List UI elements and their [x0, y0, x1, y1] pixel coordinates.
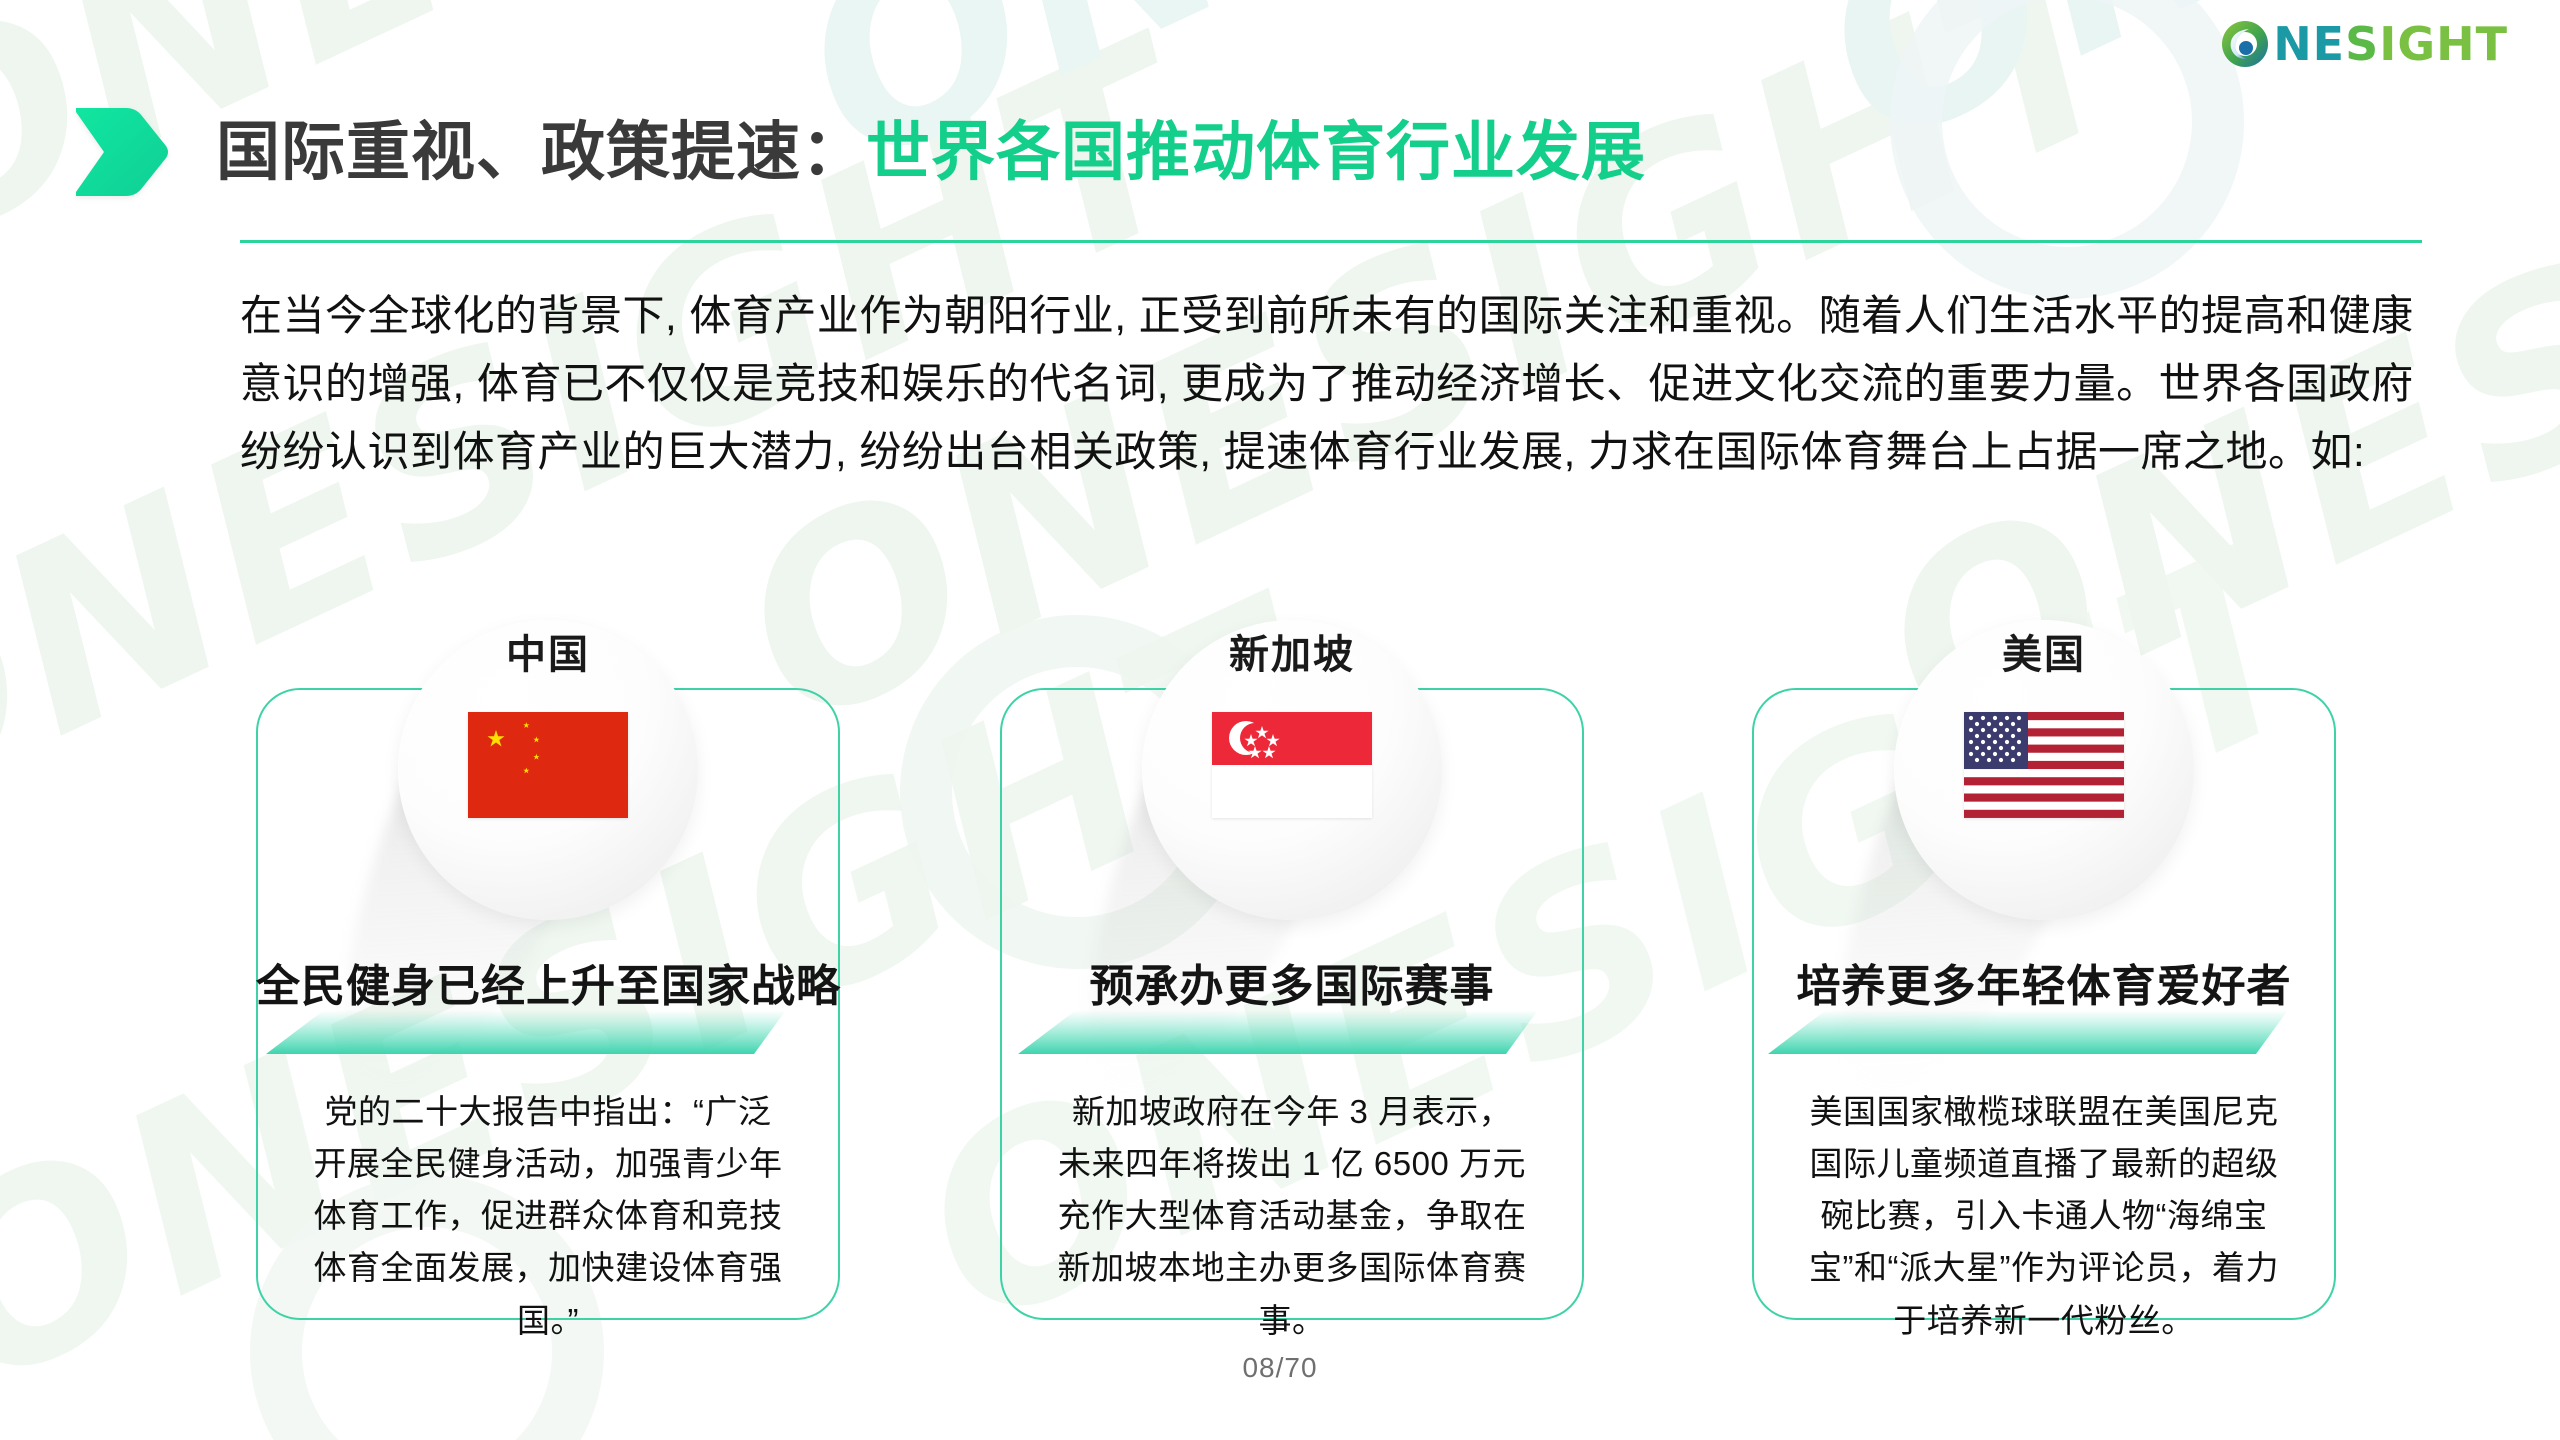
page-title-green: 世界各国推动体育行业发展 — [866, 116, 1646, 188]
logo-segment-ight: IGHT — [2379, 17, 2508, 71]
card-headline: 全民健身已经上升至国家战略 — [256, 950, 840, 1014]
country-label: 新加坡 — [1142, 622, 1442, 680]
card-body-text: 新加坡政府在今年 3 月表示，未来四年将拨出 1 亿 6500 万元充作大型体育… — [1057, 1086, 1527, 1347]
title-divider — [240, 240, 2422, 243]
watermark-ring-icon — [1890, 0, 2244, 299]
headline-banner-shape — [266, 1010, 786, 1054]
page-title-dark: 国际重视、政策提速： — [216, 116, 866, 188]
page-title-row: 国际重视、政策提速：世界各国推动体育行业发展 — [74, 106, 1646, 198]
country-label: 中国 — [398, 622, 698, 680]
slide-root: ONESIGHT ONESIGHT ONESIGHT ONESIGHT ONES… — [0, 0, 2560, 1440]
card-headline: 预承办更多国际赛事 — [1000, 950, 1584, 1014]
card-body-text: 党的二十大报告中指出：“广泛开展全民健身活动，加强青少年体育工作，促进群众体育和… — [313, 1086, 783, 1347]
usa-flag-icon — [1964, 712, 2124, 818]
singapore-flag-icon — [1212, 712, 1372, 818]
chevron-arrow-icon — [74, 106, 170, 198]
country-label: 美国 — [1894, 622, 2194, 680]
onesight-o-icon — [2219, 18, 2271, 70]
intro-paragraph: 在当今全球化的背景下, 体育产业作为朝阳行业, 正受到前所未有的国际关注和重视。… — [240, 282, 2440, 486]
logo-segment-ne: NE — [2273, 17, 2345, 71]
page-number: 08/70 — [0, 1352, 2560, 1384]
logo-wordmark: NESIGHT — [2273, 21, 2508, 67]
page-title: 国际重视、政策提速：世界各国推动体育行业发展 — [216, 120, 1646, 184]
headline-banner-shape — [1018, 1010, 1538, 1054]
brand-logo: NESIGHT — [2219, 18, 2508, 70]
china-flag-icon — [468, 712, 628, 818]
headline-banner-shape — [1768, 1010, 2288, 1054]
card-body-text: 美国国家橄榄球联盟在美国尼克国际儿童频道直播了最新的超级碗比赛，引入卡通人物“海… — [1809, 1086, 2279, 1347]
logo-segment-s: S — [2345, 17, 2379, 71]
card-headline: 培养更多年轻体育爱好者 — [1752, 950, 2336, 1014]
